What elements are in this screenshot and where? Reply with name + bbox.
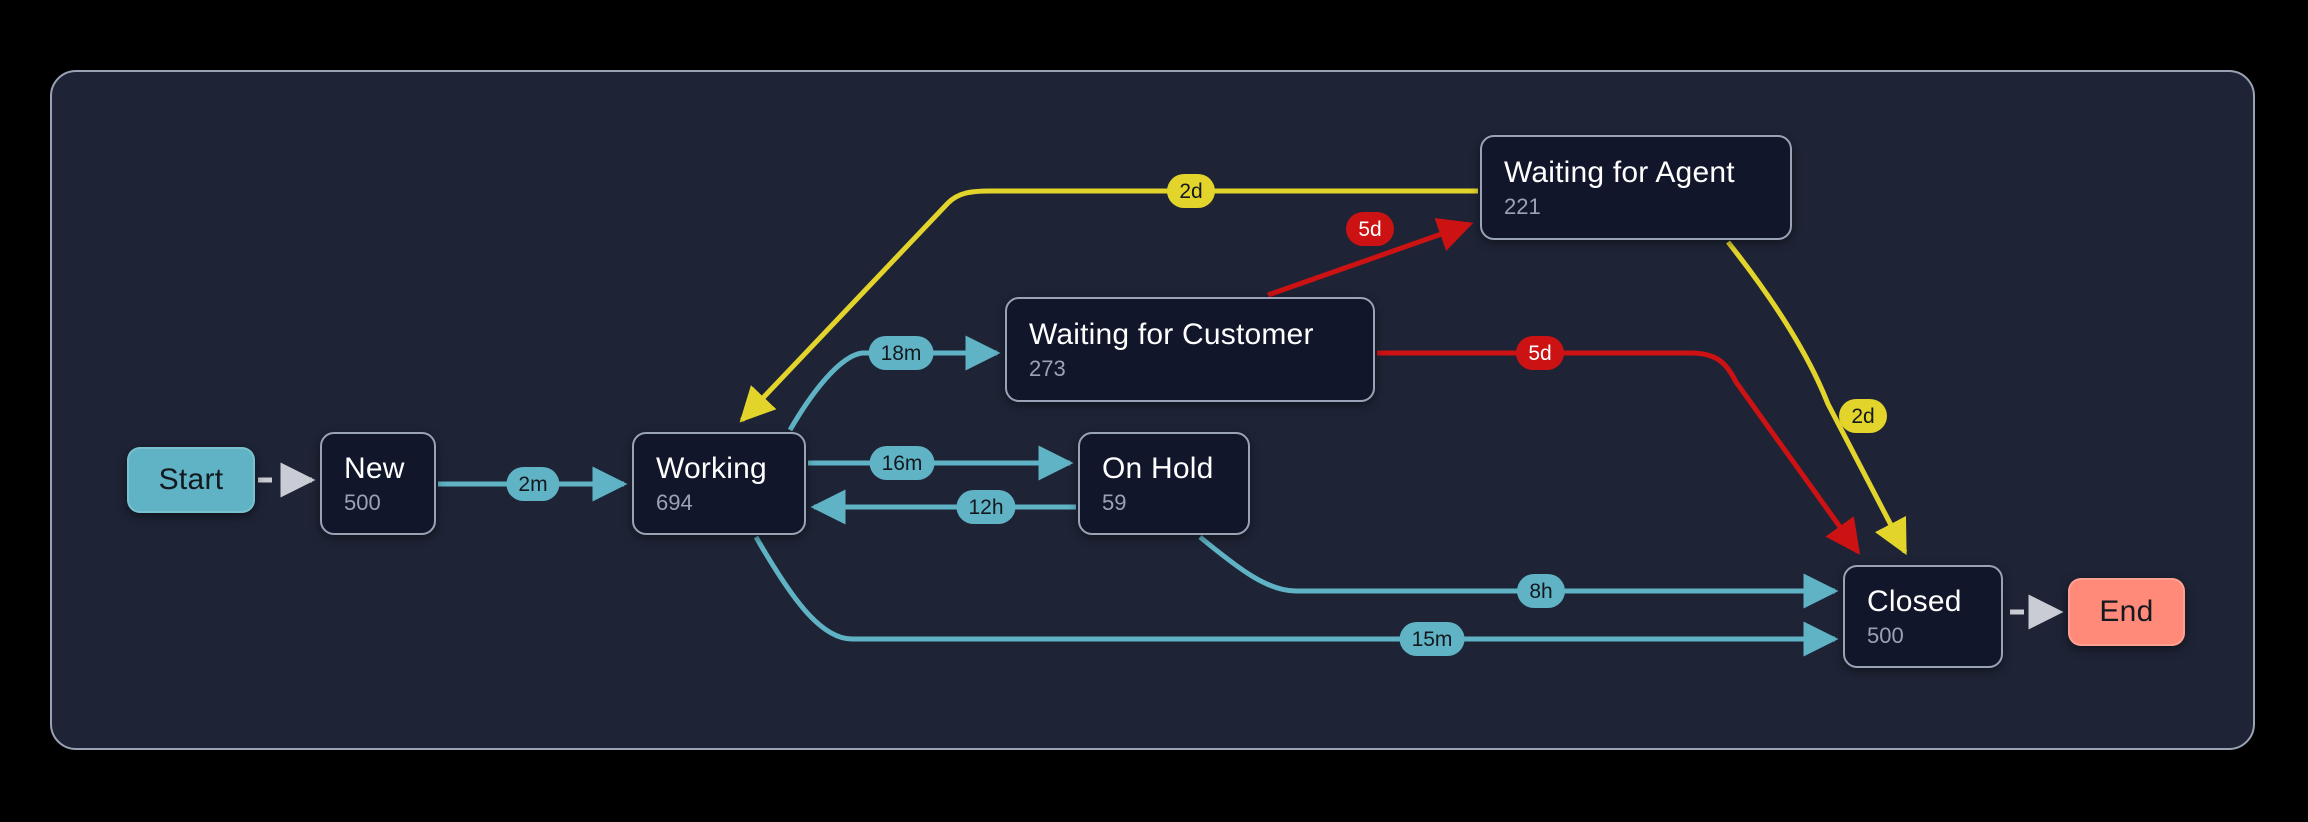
edge-badge-2d-wagent-closed[interactable]: 2d <box>1839 399 1887 433</box>
node-waiting-for-customer-title: Waiting for Customer <box>1029 318 1351 352</box>
diagram-canvas: Start New 500 Working 694 On Hold 59 Wai… <box>0 0 2308 822</box>
node-start-label: Start <box>159 464 224 496</box>
node-new[interactable]: New 500 <box>320 432 436 535</box>
node-closed-title: Closed <box>1867 585 1979 619</box>
edge-badge-2d-wagent-working[interactable]: 2d <box>1167 174 1215 208</box>
node-waiting-for-customer-count: 273 <box>1029 356 1351 382</box>
node-working-title: Working <box>656 452 782 486</box>
edge-badge-2m[interactable]: 2m <box>506 467 559 501</box>
node-new-title: New <box>344 452 412 486</box>
node-on-hold[interactable]: On Hold 59 <box>1078 432 1250 535</box>
node-on-hold-title: On Hold <box>1102 452 1226 486</box>
node-new-count: 500 <box>344 490 412 516</box>
edge-badge-8h[interactable]: 8h <box>1517 574 1565 608</box>
edge-badge-5d-wcust-closed[interactable]: 5d <box>1516 336 1564 370</box>
edge-badge-5d-wcust-wagent[interactable]: 5d <box>1346 212 1394 246</box>
node-waiting-for-agent-title: Waiting for Agent <box>1504 156 1768 190</box>
node-waiting-for-agent-count: 221 <box>1504 194 1768 220</box>
node-end[interactable]: End <box>2068 578 2185 646</box>
node-on-hold-count: 59 <box>1102 490 1226 516</box>
node-working[interactable]: Working 694 <box>632 432 806 535</box>
node-closed-count: 500 <box>1867 623 1979 649</box>
edge-badge-16m[interactable]: 16m <box>870 446 935 480</box>
node-waiting-for-agent[interactable]: Waiting for Agent 221 <box>1480 135 1792 240</box>
node-start[interactable]: Start <box>127 447 255 513</box>
edge-badge-18m[interactable]: 18m <box>869 336 934 370</box>
node-waiting-for-customer[interactable]: Waiting for Customer 273 <box>1005 297 1375 402</box>
edge-badge-15m[interactable]: 15m <box>1400 622 1465 656</box>
node-closed[interactable]: Closed 500 <box>1843 565 2003 668</box>
node-working-count: 694 <box>656 490 782 516</box>
node-end-label: End <box>2099 596 2153 628</box>
edge-badge-12h[interactable]: 12h <box>956 490 1015 524</box>
